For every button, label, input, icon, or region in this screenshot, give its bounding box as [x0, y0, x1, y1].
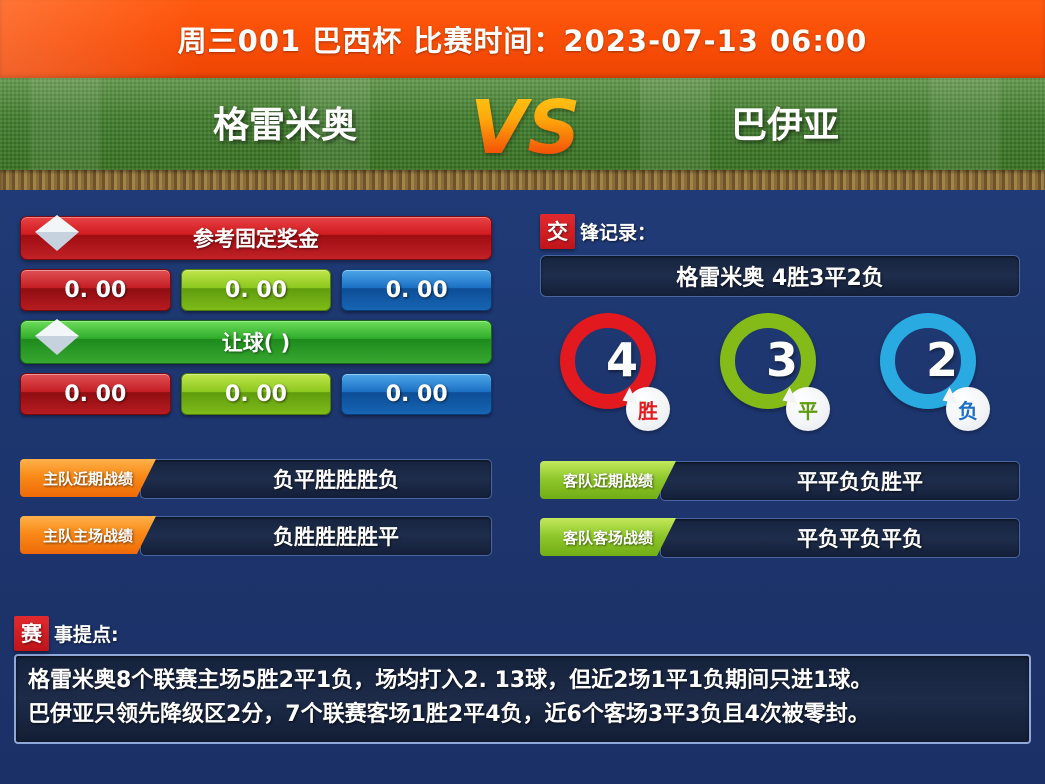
analysis-heading: 赛 事提点: [14, 618, 1031, 648]
away-away-form-bar: 平负平负平负 [660, 518, 1020, 558]
handicap-odds-row: 0. 00 0. 00 0. 00 [20, 373, 492, 415]
analysis-line: 格雷米奥8个联赛主场5胜2平1负，场均打入2. 13球，但近2场1平1负期间只进… [28, 664, 1017, 698]
vs-icon: VS [470, 82, 580, 187]
fixed-odds-title: 参考固定奖金 [193, 223, 319, 253]
handicap-title: 让球( ) [222, 327, 291, 357]
header-bar: 周三001 巴西杯 比赛时间：2023-07-13 06:00 [0, 0, 1045, 78]
fixed-odds-row: 0. 00 0. 00 0. 00 [20, 269, 492, 311]
h2h-heading: 交 锋记录： [540, 216, 1020, 246]
handicap-odd-lose[interactable]: 0. 00 [341, 373, 492, 415]
pitch-stripe [930, 78, 1000, 172]
h2h-lose-badge: 负 [946, 387, 990, 431]
h2h-win-count: 4 [606, 333, 666, 387]
away-away-form-row: 客队客场战绩 平负平负平负 [540, 518, 1020, 556]
away-recent-form-label: 客队近期战绩 [540, 461, 676, 499]
content-body: 参考固定奖金 0. 00 0. 00 0. 00 让球( ) 0. 00 0. … [0, 190, 1045, 784]
fixed-odd-draw[interactable]: 0. 00 [181, 269, 332, 311]
page-title: 周三001 巴西杯 比赛时间：2023-07-13 06:00 [178, 18, 868, 60]
h2h-ring-lose: 2 负 [880, 313, 1000, 433]
analysis-line: 巴伊亚只领先降级区2分，7个联赛客场1胜2平4负，近6个客场3平3负且4次被零封… [28, 698, 1017, 732]
pitch-stripe [30, 78, 100, 172]
odds-panel: 参考固定奖金 0. 00 0. 00 0. 00 让球( ) 0. 00 0. … [20, 216, 492, 554]
home-recent-form-bar: 负平胜胜胜负 [140, 459, 492, 499]
home-home-form-bar: 负胜胜胜胜平 [140, 516, 492, 556]
away-team-name: 巴伊亚 [640, 96, 930, 156]
away-recent-form-value: 平平负负胜平 [757, 466, 923, 496]
handicap-odd-draw[interactable]: 0. 00 [181, 373, 332, 415]
home-recent-form-label: 主队近期战绩 [20, 459, 156, 497]
h2h-heading-tag: 交 [540, 214, 575, 249]
h2h-summary-bar: 格雷米奥 4胜3平2负 [540, 255, 1020, 297]
h2h-rings: 4 胜 3 平 2 负 [540, 313, 1020, 443]
match-preview-page: 周三001 巴西杯 比赛时间：2023-07-13 06:00 格雷米奥 VS … [0, 0, 1045, 784]
fixed-odd-lose[interactable]: 0. 00 [341, 269, 492, 311]
away-away-form-label: 客队客场战绩 [540, 518, 676, 556]
home-home-form-label: 主队主场战绩 [20, 516, 156, 554]
h2h-ring-draw: 3 平 [720, 313, 840, 433]
fixed-odd-win[interactable]: 0. 00 [20, 269, 171, 311]
away-recent-form-row: 客队近期战绩 平平负负胜平 [540, 461, 1020, 499]
home-team-name: 格雷米奥 [140, 96, 430, 156]
fixed-odds-banner: 参考固定奖金 [20, 216, 492, 260]
analysis-section: 赛 事提点: 格雷米奥8个联赛主场5胜2平1负，场均打入2. 13球，但近2场1… [14, 618, 1031, 744]
away-recent-form-bar: 平平负负胜平 [660, 461, 1020, 501]
handicap-odd-win[interactable]: 0. 00 [20, 373, 171, 415]
header-glow [0, 0, 200, 78]
h2h-panel: 交 锋记录： 格雷米奥 4胜3平2负 4 胜 3 平 2 负 [540, 216, 1020, 556]
h2h-win-badge: 胜 [626, 387, 670, 431]
diamond-icon [35, 315, 79, 359]
analysis-box: 格雷米奥8个联赛主场5胜2平1负，场均打入2. 13球，但近2场1平1负期间只进… [14, 654, 1031, 744]
h2h-ring-win: 4 胜 [560, 313, 680, 433]
diamond-icon [35, 211, 79, 255]
home-home-form-row: 主队主场战绩 负胜胜胜胜平 [20, 516, 492, 554]
analysis-heading-text: 事提点: [54, 620, 119, 647]
analysis-heading-tag: 赛 [14, 616, 49, 651]
away-away-form-value: 平负平负平负 [757, 523, 923, 553]
h2h-draw-badge: 平 [786, 387, 830, 431]
home-recent-form-value: 负平胜胜胜负 [233, 464, 399, 494]
h2h-draw-count: 3 [766, 333, 826, 387]
home-home-form-value: 负胜胜胜胜平 [233, 521, 399, 551]
home-recent-form-row: 主队近期战绩 负平胜胜胜负 [20, 459, 492, 497]
h2h-lose-count: 2 [926, 333, 986, 387]
h2h-heading-text: 锋记录： [580, 218, 656, 245]
handicap-banner: 让球( ) [20, 320, 492, 364]
